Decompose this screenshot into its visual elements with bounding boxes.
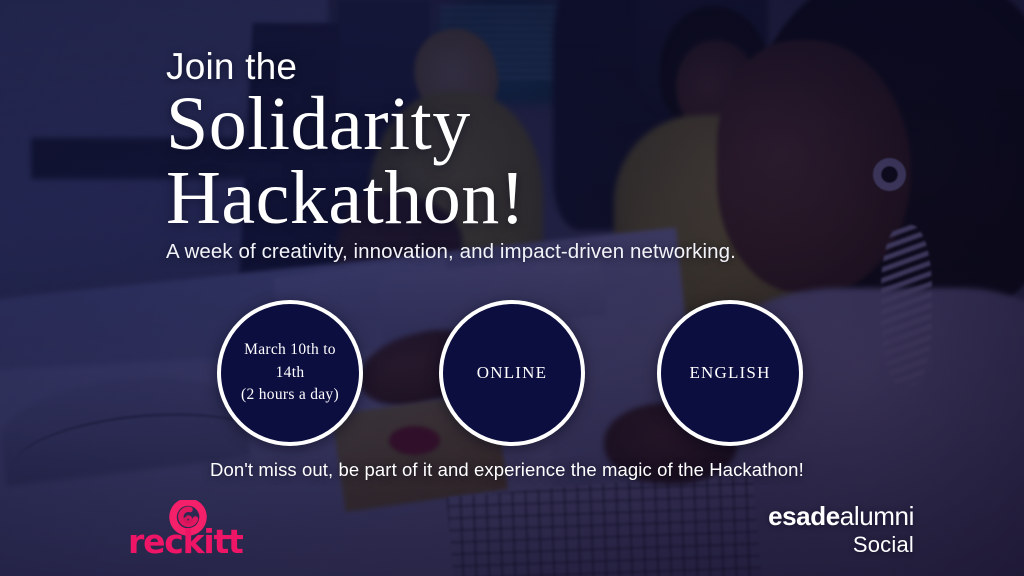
call-to-action-text: Don't miss out, be part of it and experi… (210, 459, 804, 481)
badge-format: ONLINE (439, 300, 585, 446)
reckitt-wordmark: reckitt (128, 525, 243, 558)
badge-dates-text: March 10th to 14th (2 hours a day) (221, 339, 359, 406)
poster-content: Join the Solidarity Hackathon! A week of… (0, 0, 1024, 576)
badge-dates-line-1: March 10th to 14th (244, 341, 336, 380)
headline-line-1: Solidarity (166, 82, 471, 166)
esade-subbrand: Social (768, 533, 914, 556)
reckitt-logo: reckitt (128, 500, 248, 562)
badge-group: March 10th to 14th (2 hours a day) ONLIN… (217, 300, 807, 450)
esade-alumni-logo: esadealumni Social (768, 503, 914, 556)
badge-format-text: ONLINE (469, 361, 555, 386)
page-title: Solidarity Hackathon! (166, 88, 886, 235)
hackathon-promo-poster: Join the Solidarity Hackathon! A week of… (0, 0, 1024, 576)
badge-dates-line-2: (2 hours a day) (241, 386, 339, 403)
subtitle-text: A week of creativity, innovation, and im… (166, 240, 736, 264)
esade-brand: esadealumni (768, 503, 914, 531)
headline-line-2: Hackathon! (166, 162, 886, 236)
esade-brand-light: alumni (840, 501, 914, 531)
badge-language: ENGLISH (657, 300, 803, 446)
badge-dates: March 10th to 14th (2 hours a day) (217, 300, 363, 446)
badge-language-text: ENGLISH (681, 361, 778, 386)
esade-brand-bold: esade (768, 501, 840, 531)
eyebrow-text: Join the (166, 48, 297, 85)
